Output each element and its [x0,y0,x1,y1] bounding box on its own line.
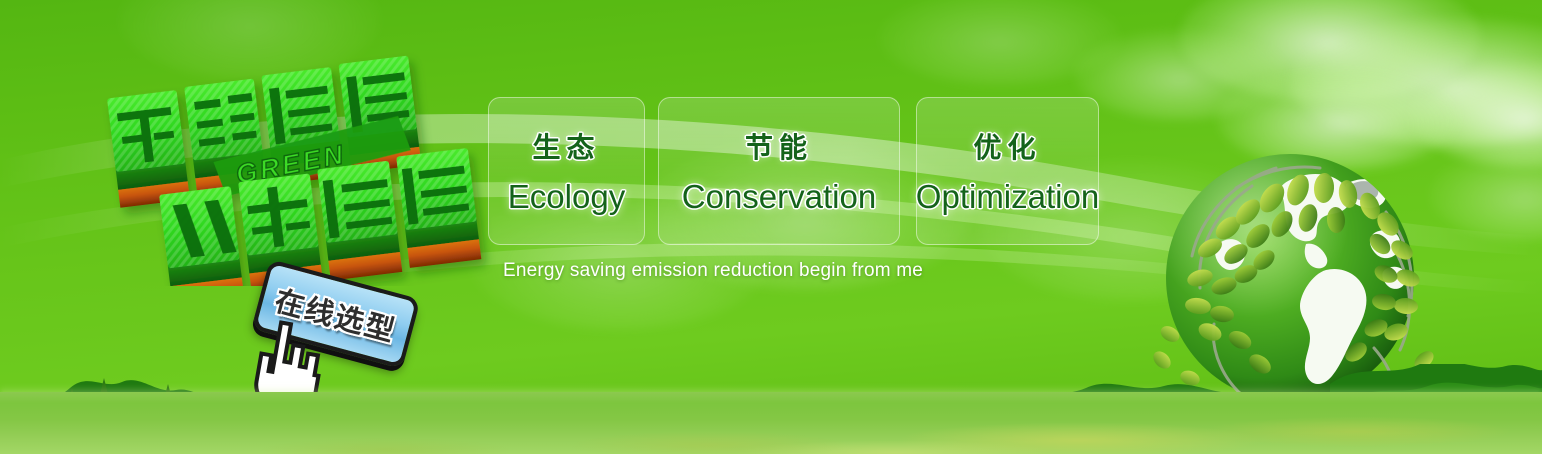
feature-card-en-label: Conservation [682,178,876,216]
feature-card-optimization[interactable]: 优化 Optimization [916,97,1099,245]
svg-text:GREEN: GREEN [234,139,349,190]
cloud-icon [1290,18,1542,146]
feature-card-cn-label: 优化 [973,126,1041,166]
cloud-icon [1430,150,1542,240]
feature-card-cn-label: 生态 [532,126,600,166]
feature-card-ecology[interactable]: 生态 Ecology [488,97,645,245]
cloud-icon [880,0,1120,85]
feature-card-cn-label: 节能 [745,126,813,166]
feature-card-en-label: Ecology [508,178,625,216]
headline-3d-artwork: GREEN [96,36,496,286]
banner-subtitle: Energy saving emission reduction begin f… [503,260,923,282]
eco-promo-banner: GREEN [0,0,1542,454]
leafy-earth-globe-icon [1140,128,1440,428]
cloud-icon [1075,30,1285,120]
cloud-icon [1180,0,1480,102]
feature-card-en-label: Optimization [916,178,1099,216]
hand-pointer-icon [237,311,336,416]
feature-card-conservation[interactable]: 节能 Conservation [658,97,900,245]
cloud-icon [120,0,380,80]
